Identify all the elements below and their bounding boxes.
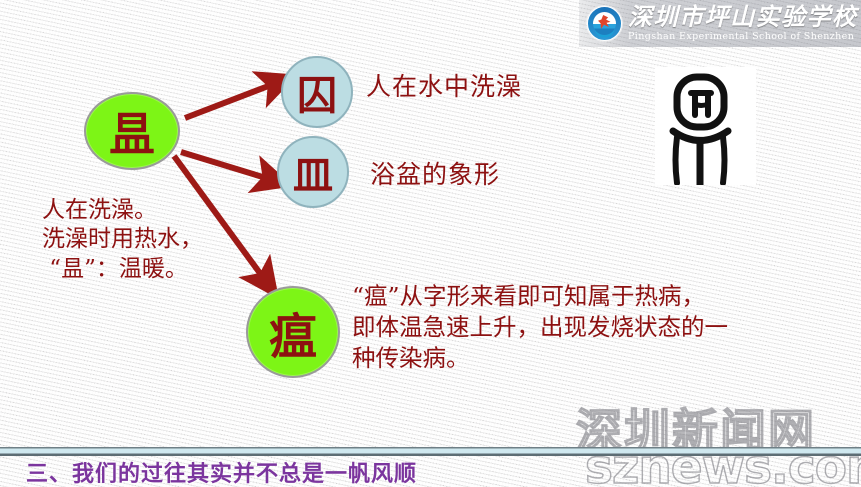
diagram-node-min[interactable]: 皿 — [277, 136, 349, 208]
diagram-node-qiu[interactable]: 囚 — [281, 56, 353, 128]
slide-canvas: 深圳市坪山实验学校 Pingshan Experimental School o… — [0, 0, 861, 487]
label-left-note: 人在洗澡。 洗澡时用热水， “昷”：温暖。 — [42, 196, 203, 284]
school-name-cn: 深圳市坪山实验学校 — [628, 5, 858, 29]
arrow-to-qiu — [185, 85, 271, 118]
footer-divider — [0, 447, 861, 456]
label-qiu-explanation: 人在水中洗澡 — [366, 67, 522, 103]
diagram-node-weng[interactable]: 瘟 — [246, 286, 340, 378]
school-name-en: Pingshan Experimental School of Shenzhen — [628, 32, 858, 42]
diagram-node-root[interactable]: 昷 — [84, 92, 180, 170]
footer-caption: 三、我们的过往其实并不总是一帆风顺 — [26, 456, 417, 487]
school-logo-group: 深圳市坪山实验学校 Pingshan Experimental School o… — [579, 0, 861, 47]
oracle-bone-script-wen-icon — [655, 67, 756, 185]
school-name-block: 深圳市坪山实验学校 Pingshan Experimental School o… — [628, 5, 858, 42]
label-min-explanation: 浴盆的象形 — [370, 155, 500, 191]
label-weng-explanation: “瘟”从字形来看即可知属于热病， 即体温急速上升，出现发烧状态的一 种传染病。 — [352, 281, 728, 374]
school-crest-icon — [587, 6, 622, 41]
arrow-to-min — [181, 152, 266, 178]
